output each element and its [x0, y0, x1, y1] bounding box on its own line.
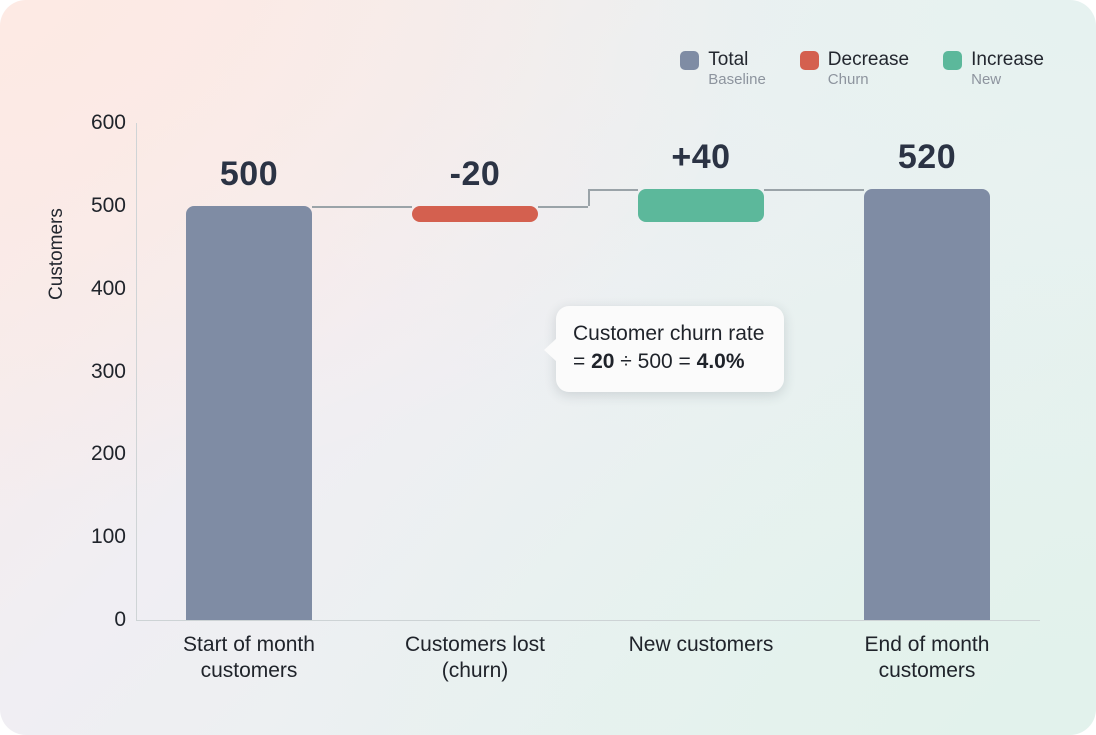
callout-line-1: Customer churn rate	[573, 320, 767, 348]
y-axis-tick-100: 100	[66, 525, 126, 549]
x-axis-label-line: Customers lost	[362, 632, 588, 658]
x-axis-label-3: End of monthcustomers	[814, 632, 1040, 685]
callout-divider: ÷	[614, 350, 637, 373]
bar-increase-2[interactable]	[638, 189, 764, 222]
x-axis-label-line: (churn)	[362, 658, 588, 684]
bar-value-label-1: -20	[412, 155, 538, 194]
callout-line-2: = 20 ÷ 500 = 4.0%	[573, 348, 767, 376]
y-axis-tick-200: 200	[66, 442, 126, 466]
plot-area: Customers 6005004003002001000 500-20+405…	[0, 0, 1096, 735]
connector-v-1	[588, 189, 590, 206]
x-axis-label-line: customers	[814, 658, 1040, 684]
bar-value-label-0: 500	[186, 155, 312, 194]
bar-total-3[interactable]	[864, 189, 990, 620]
y-axis-tick-0: 0	[66, 608, 126, 632]
x-axis-label-line: New customers	[588, 632, 814, 658]
callout-eq-mid: =	[673, 350, 697, 373]
waterfall-chart-card: Total Baseline Decrease Churn Increase N…	[0, 0, 1096, 735]
connector-h-0b	[362, 206, 412, 208]
y-axis-tick-600: 600	[66, 111, 126, 135]
callout-tail-icon	[544, 338, 557, 362]
x-axis-label-line: customers	[136, 658, 362, 684]
x-axis-baseline	[136, 620, 1040, 621]
x-axis-label-line: End of month	[814, 632, 1040, 658]
x-axis-label-line: Start of month	[136, 632, 362, 658]
x-axis-label-0: Start of monthcustomers	[136, 632, 362, 685]
connector-h-1b	[588, 189, 638, 191]
connector-h-2a	[764, 189, 814, 191]
connector-h-2b	[814, 189, 864, 191]
callout-denominator: 500	[638, 350, 673, 373]
y-axis-tick-400: 400	[66, 277, 126, 301]
callout-result: 4.0%	[697, 350, 745, 373]
connector-h-0a	[312, 206, 362, 208]
connector-h-1a	[538, 206, 588, 208]
churn-rate-annotation-callout: Customer churn rate = 20 ÷ 500 = 4.0%	[556, 306, 784, 392]
bar-value-label-3: 520	[864, 138, 990, 177]
y-axis-title: Customers	[46, 208, 68, 300]
callout-eq-prefix: =	[573, 350, 591, 373]
x-axis-label-1: Customers lost(churn)	[362, 632, 588, 685]
bar-decrease-1[interactable]	[412, 206, 538, 223]
bar-value-label-2: +40	[638, 138, 764, 177]
bar-total-0[interactable]	[186, 206, 312, 620]
y-axis-line	[136, 123, 137, 620]
y-axis-tick-300: 300	[66, 360, 126, 384]
y-axis-tick-500: 500	[66, 194, 126, 218]
x-axis-label-2: New customers	[588, 632, 814, 658]
callout-numerator: 20	[591, 350, 614, 373]
y-axis-tick-labels: 6005004003002001000	[66, 0, 126, 735]
